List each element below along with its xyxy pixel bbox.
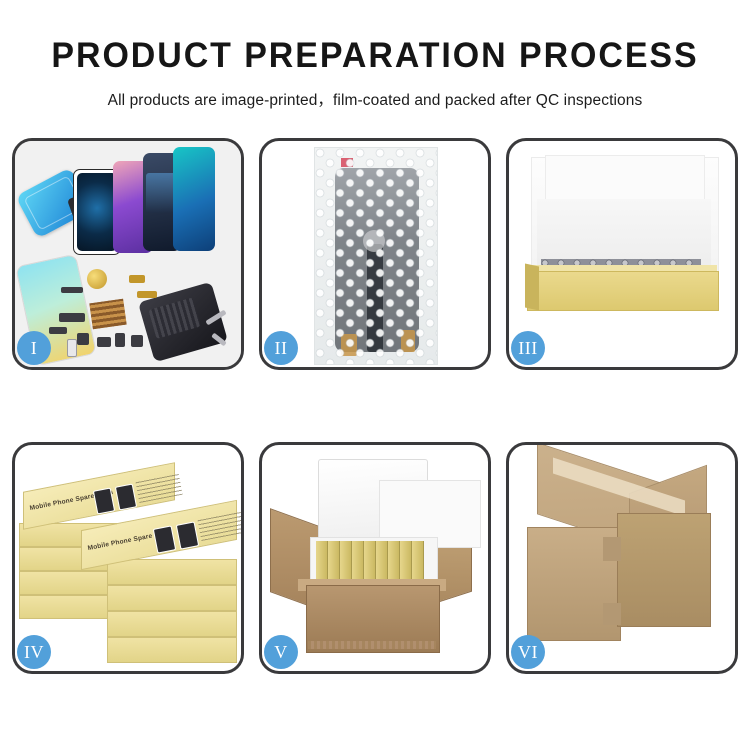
small-part [137,291,157,298]
gold-box-front [527,271,719,311]
stacked-box [107,611,237,637]
step-badge-1: I [17,331,51,365]
step-panel-stacked-boxes: Mobile Phone Spare Parts Mobile Phone Sp… [12,442,244,674]
step-badge-2: II [264,331,298,365]
sealed-carton-photo [509,445,735,671]
step-panel-sealed-carton: VI [506,442,738,674]
bubble-wrap-bag [314,147,438,365]
step-panel-raw-parts: I [12,138,244,370]
carton-corner-tab [603,603,621,625]
stacked-box [107,637,237,663]
small-part [97,337,111,347]
small-part [131,335,143,347]
box-stack: Mobile Phone Spare Parts Mobile Phone Sp… [19,463,239,659]
small-part [59,313,85,322]
step-panel-inner-box: III [506,138,738,370]
small-part [115,333,125,347]
stacked-box [107,585,237,611]
carton-corner-tab [603,537,621,561]
carton-face-right [617,513,711,627]
small-part [67,339,77,357]
carton-filling-photo [262,445,488,671]
small-part [61,287,83,293]
stacked-boxes-photo: Mobile Phone Spare Parts Mobile Phone Sp… [15,445,241,671]
bubble-texture [315,148,437,364]
carton-corrugation [308,641,436,649]
page-title: PRODUCT PREPARATION PROCESS [11,36,739,76]
gold-box-side [525,264,539,311]
teal-gradient-phone [173,147,215,251]
stacked-box [19,571,117,595]
step-panel-carton-filling: V [259,442,491,674]
step-panel-bubble-wrap: II [259,138,491,370]
stacked-box [19,595,117,619]
step-badge-4: IV [17,635,51,669]
step-badge-3: III [511,331,545,365]
process-step-grid: I II [12,138,738,674]
header: PRODUCT PREPARATION PROCESS All products… [0,0,750,110]
small-part [129,275,145,283]
step-badge-5: V [264,635,298,669]
gold-component [87,269,107,289]
small-part [77,333,89,345]
product-preparation-infographic: PRODUCT PREPARATION PROCESS All products… [0,0,750,750]
step-badge-6: VI [511,635,545,669]
chip-grid-part [89,299,126,329]
stacked-box [107,559,237,585]
foam-lid [318,459,428,543]
page-subtitle: All products are image-printed，film-coat… [0,88,750,110]
small-part [49,327,67,334]
inner-box-photo [509,141,735,367]
raw-parts-photo [15,141,241,367]
bubble-wrap-photo [262,141,488,367]
